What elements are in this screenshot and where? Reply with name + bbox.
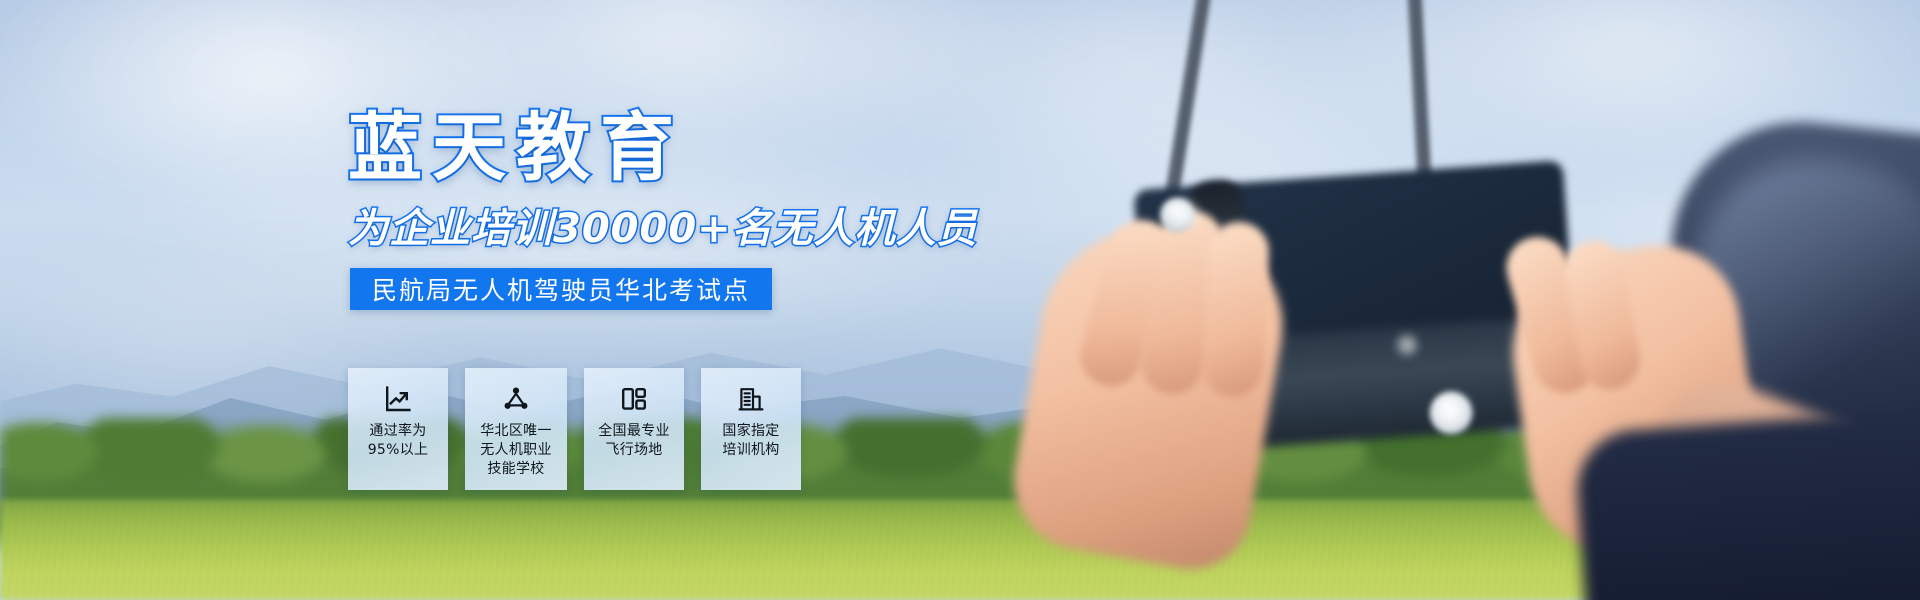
certification-badge: 民航局无人机驾驶员华北考试点 bbox=[350, 268, 772, 310]
feature-card-only-school[interactable]: 华北区唯一 无人机职业 技能学校 bbox=[465, 368, 567, 490]
feature-card-label: 国家指定 培训机构 bbox=[722, 422, 779, 460]
feature-card-pass-rate[interactable]: 通过率为 95%以上 bbox=[348, 368, 448, 490]
hero-banner: 蓝天教育 为企业培训30000+名无人机人员 民航局无人机驾驶员华北考试点 通过… bbox=[0, 0, 1920, 600]
feature-card-national-institution[interactable]: 国家指定 培训机构 bbox=[701, 368, 801, 490]
banner-content: 蓝天教育 为企业培训30000+名无人机人员 民航局无人机驾驶员华北考试点 通过… bbox=[0, 0, 1920, 600]
layout-grid-icon bbox=[619, 384, 649, 414]
feature-cards: 通过率为 95%以上 华北区唯一 无人机职业 技能学校 bbox=[348, 368, 801, 490]
network-nodes-icon bbox=[501, 384, 531, 414]
feature-card-flight-field[interactable]: 全国最专业 飞行场地 bbox=[584, 368, 684, 490]
chart-growth-icon bbox=[383, 384, 413, 414]
feature-card-label: 全国最专业 飞行场地 bbox=[598, 422, 670, 460]
feature-card-label: 华北区唯一 无人机职业 技能学校 bbox=[480, 422, 552, 479]
banner-subtitle: 为企业培训30000+名无人机人员 bbox=[348, 196, 978, 254]
feature-card-label: 通过率为 95%以上 bbox=[368, 422, 429, 460]
building-icon bbox=[736, 384, 766, 414]
banner-title: 蓝天教育 bbox=[348, 88, 684, 195]
